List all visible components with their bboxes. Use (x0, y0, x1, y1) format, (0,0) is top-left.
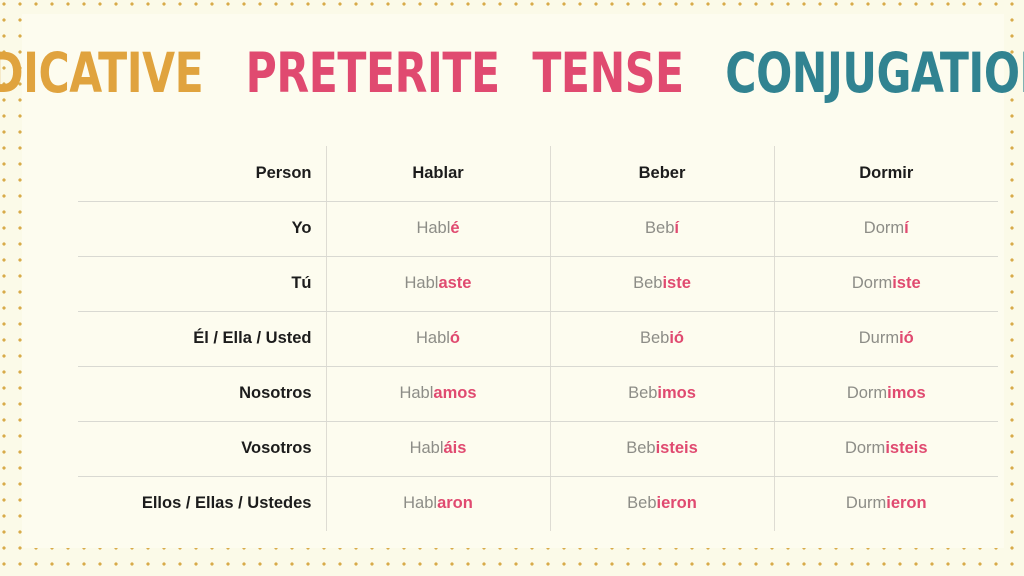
table-row: VosotrosHabláisBebisteisDormisteis (78, 421, 998, 476)
verb-ending: ieron (657, 494, 697, 512)
conjugation-cell: Durmió (774, 311, 998, 366)
conjugation-cell: Bebí (550, 201, 774, 256)
verb-stem: Durm (859, 329, 899, 347)
verb-stem: Beb (628, 384, 657, 402)
person-label: Vosotros (78, 421, 326, 476)
conjugation-cell: Hablamos (326, 366, 550, 421)
verb-ending: áis (444, 439, 467, 457)
page-title: INDICATIVEPRETERITETENSECONJUGATIONS (58, 38, 972, 108)
conjugation-cell: Bebiste (550, 256, 774, 311)
verb-stem: Durm (846, 494, 886, 512)
person-label: Tú (78, 256, 326, 311)
conjugation-cell: Dormí (774, 201, 998, 256)
conjugation-cell: Hablaste (326, 256, 550, 311)
verb-stem: Habl (403, 494, 437, 512)
title-word-1: INDICATIVE (0, 46, 203, 101)
title-word-2: PRETERITE (245, 46, 499, 101)
verb-stem: Habl (410, 439, 444, 457)
conjugation-cell: Hablaron (326, 476, 550, 531)
verb-stem: Dorm (845, 439, 885, 457)
column-header-verb-1: Hablar (326, 146, 550, 201)
table-row: Ellos / Ellas / UstedesHablaronBebieronD… (78, 476, 998, 531)
verb-stem: Beb (633, 274, 662, 292)
conjugation-cell: Durmieron (774, 476, 998, 531)
verb-stem: Dorm (852, 274, 892, 292)
verb-ending: ieron (886, 494, 926, 512)
verb-ending: imos (887, 384, 926, 402)
column-header-verb-2: Beber (550, 146, 774, 201)
conjugation-table: PersonHablarBeberDormir YoHabléBebíDormí… (78, 146, 998, 531)
person-label: Ellos / Ellas / Ustedes (78, 476, 326, 531)
title-word-3: TENSE (532, 46, 683, 101)
column-header-verb-3: Dormir (774, 146, 998, 201)
content-card: INDICATIVEPRETERITETENSECONJUGATIONS Per… (22, 14, 1004, 548)
verb-ending: amos (433, 384, 476, 402)
verb-ending: ió (899, 329, 914, 347)
person-label: Yo (78, 201, 326, 256)
verb-stem: Beb (626, 439, 655, 457)
conjugation-cell: Bebimos (550, 366, 774, 421)
table-row: Él / Ella / UstedHablóBebióDurmió (78, 311, 998, 366)
verb-ending: aste (438, 274, 471, 292)
verb-ending: aron (437, 494, 473, 512)
verb-stem: Dorm (864, 219, 904, 237)
table-body: YoHabléBebíDormíTúHablasteBebisteDormist… (78, 201, 998, 531)
table-header-row: PersonHablarBeberDormir (78, 146, 998, 201)
person-label: Nosotros (78, 366, 326, 421)
verb-stem: Habl (399, 384, 433, 402)
conjugation-cell: Habló (326, 311, 550, 366)
conjugation-cell: Hablé (326, 201, 550, 256)
verb-stem: Beb (640, 329, 669, 347)
verb-ending: imos (657, 384, 696, 402)
verb-ending: iste (662, 274, 690, 292)
column-header-person: Person (78, 146, 326, 201)
verb-stem: Dorm (847, 384, 887, 402)
verb-stem: Beb (645, 219, 674, 237)
verb-ending: é (450, 219, 459, 237)
table-row: YoHabléBebíDormí (78, 201, 998, 256)
verb-ending: iste (892, 274, 920, 292)
verb-stem: Habl (416, 329, 450, 347)
title-word-4: CONJUGATIONS (725, 46, 1024, 101)
verb-ending: í (674, 219, 679, 237)
verb-stem: Habl (416, 219, 450, 237)
conjugation-cell: Dormiste (774, 256, 998, 311)
verb-stem: Habl (405, 274, 439, 292)
verb-ending: ió (669, 329, 684, 347)
person-label: Él / Ella / Usted (78, 311, 326, 366)
verb-ending: í (904, 219, 909, 237)
conjugation-cell: Bebieron (550, 476, 774, 531)
table-row: NosotrosHablamosBebimosDormimos (78, 366, 998, 421)
verb-ending: isteis (885, 439, 927, 457)
conjugation-cell: Bebió (550, 311, 774, 366)
verb-stem: Beb (627, 494, 656, 512)
verb-ending: ó (450, 329, 460, 347)
conjugation-cell: Habláis (326, 421, 550, 476)
conjugation-cell: Bebisteis (550, 421, 774, 476)
table-header: PersonHablarBeberDormir (78, 146, 998, 201)
conjugation-cell: Dormisteis (774, 421, 998, 476)
table-row: TúHablasteBebisteDormiste (78, 256, 998, 311)
verb-ending: isteis (656, 439, 698, 457)
conjugation-cell: Dormimos (774, 366, 998, 421)
